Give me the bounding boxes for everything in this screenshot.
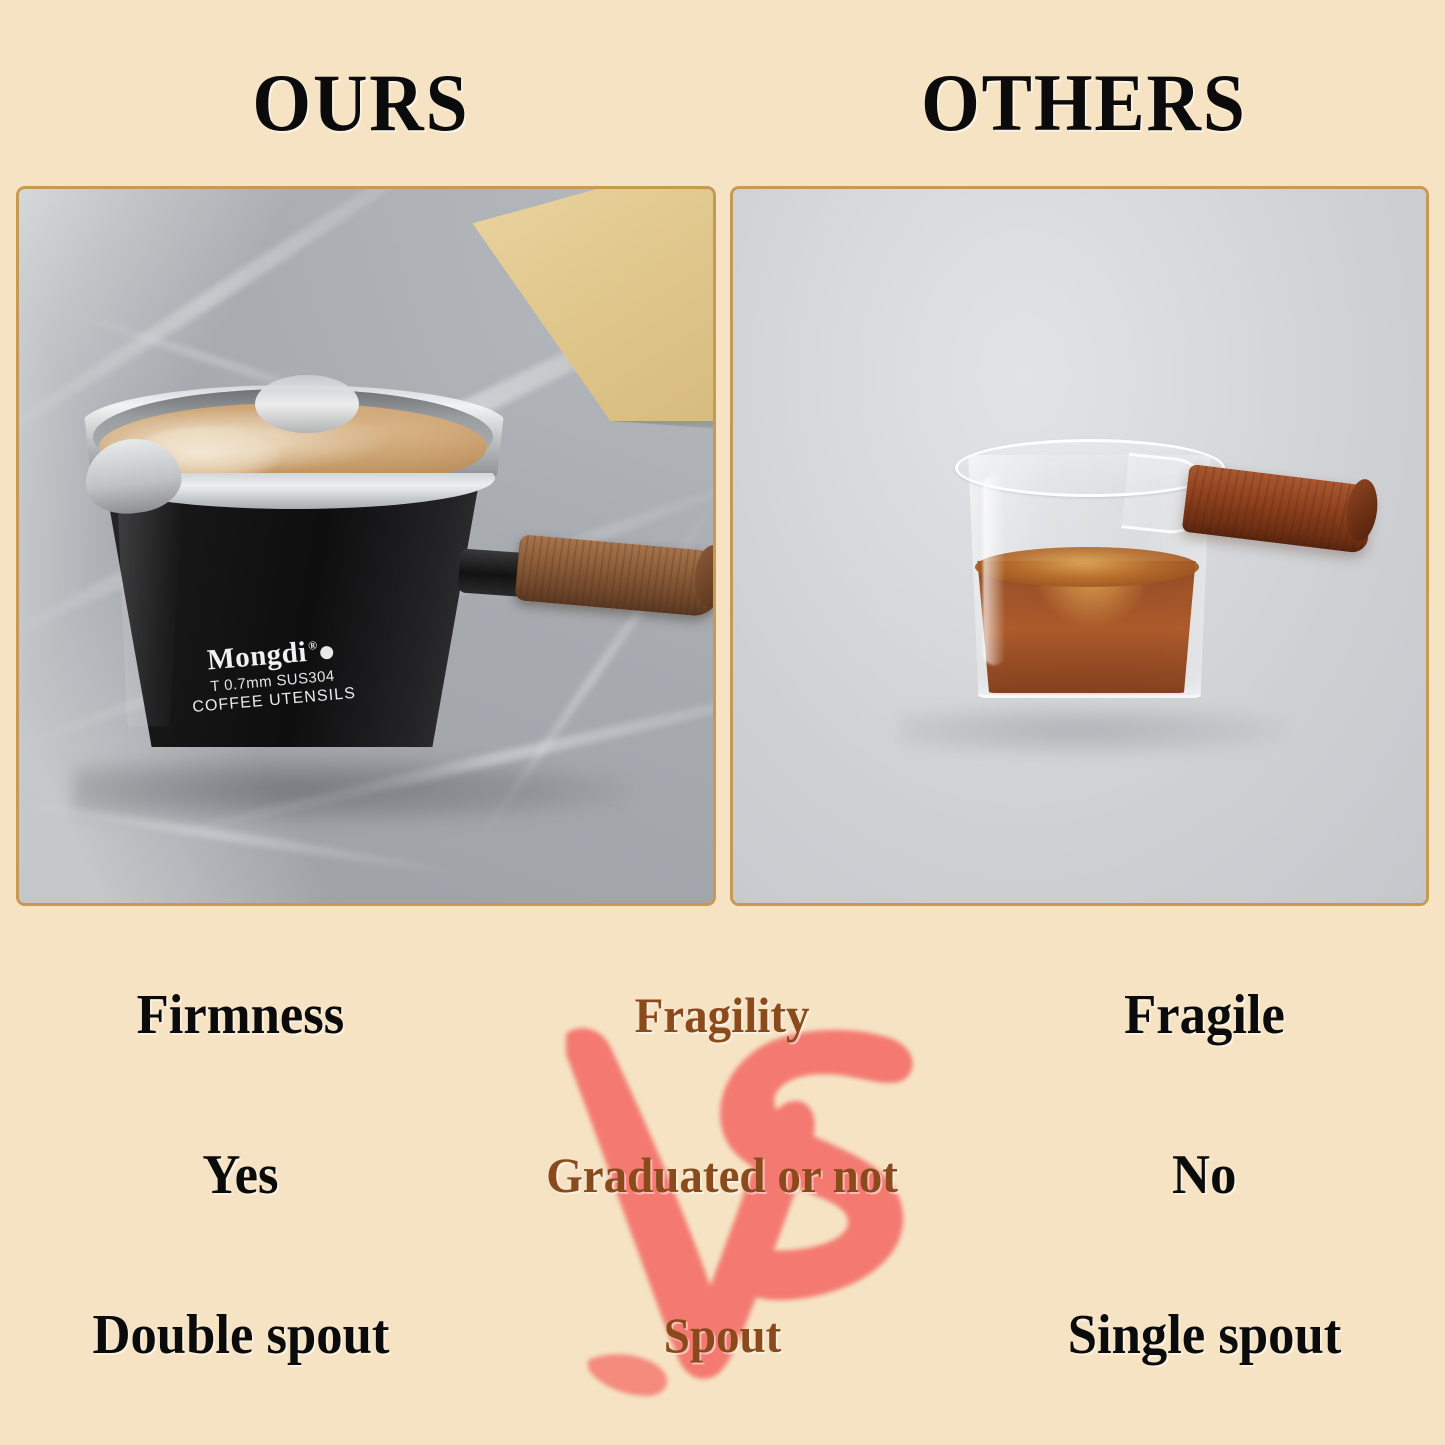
coffee-liquid-surface	[975, 547, 1199, 587]
product-photo-ours: Mongdi® T 0.7mm SUS304 COFFEE UTENSILS	[16, 186, 716, 906]
comparison-feature-label: Graduated or not	[547, 1150, 899, 1200]
product-photo-others	[730, 186, 1430, 906]
header-row: OURS OTHERS	[0, 48, 1445, 158]
comparison-value-others: No	[1172, 1147, 1236, 1203]
comparison-cell-ours: Double spout	[0, 1307, 482, 1363]
comparison-cell-ours: Firmness	[0, 987, 482, 1043]
comparison-value-ours: Double spout	[92, 1307, 389, 1363]
comparison-feature-label: Spout	[664, 1310, 782, 1360]
comparison-table: Firmness Fragility Fragile Yes Graduated…	[0, 952, 1445, 1432]
comparison-infographic: OURS OTHERS	[0, 0, 1445, 1445]
comparison-row: Double spout Spout Single spout	[0, 1280, 1445, 1390]
glass-highlight	[983, 475, 1005, 665]
comparison-cell-others: Single spout	[963, 1307, 1445, 1363]
page-title-ours: OURS	[253, 62, 470, 144]
header-cell-ours: OURS	[0, 48, 723, 158]
pitcher-drop-shadow	[73, 755, 633, 825]
glass-pitcher-drop-shadow	[899, 703, 1287, 757]
comparison-feature-label: Fragility	[635, 990, 810, 1040]
comparison-value-ours: Yes	[203, 1147, 279, 1203]
comparison-cell-ours: Yes	[0, 1147, 482, 1203]
rear-spout	[255, 375, 359, 433]
header-cell-others: OTHERS	[723, 48, 1445, 158]
comparison-value-ours: Firmness	[137, 987, 345, 1043]
page-title-others: OTHERS	[921, 62, 1246, 144]
comparison-cell-others: No	[963, 1147, 1445, 1203]
comparison-value-others: Fragile	[1124, 987, 1285, 1043]
comparison-cell-feature: Fragility	[482, 990, 964, 1040]
comparison-row: Yes Graduated or not No	[0, 1120, 1445, 1230]
photo-panel-row: Mongdi® T 0.7mm SUS304 COFFEE UTENSILS	[16, 186, 1429, 906]
comparison-cell-others: Fragile	[963, 987, 1445, 1043]
comparison-cell-feature: Graduated or not	[482, 1150, 964, 1200]
comparison-cell-feature: Spout	[482, 1310, 964, 1360]
comparison-row: Firmness Fragility Fragile	[0, 960, 1445, 1070]
comparison-value-others: Single spout	[1067, 1307, 1341, 1363]
